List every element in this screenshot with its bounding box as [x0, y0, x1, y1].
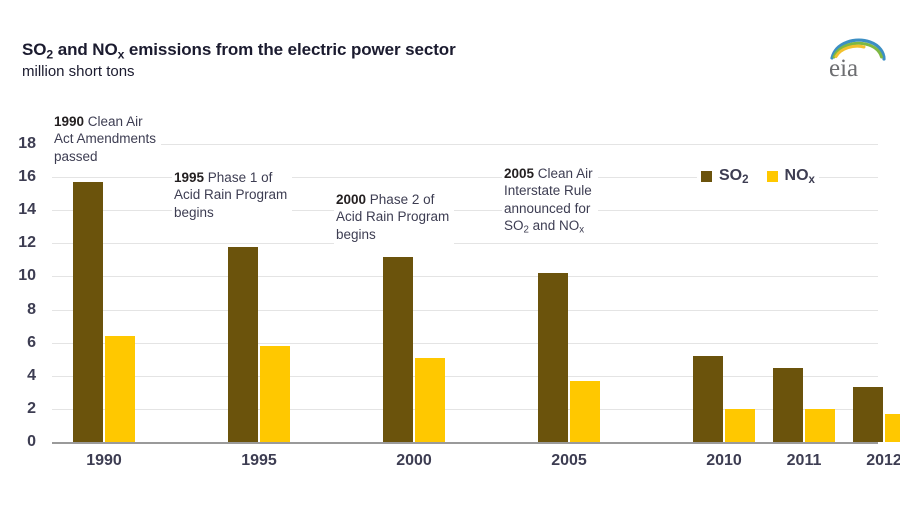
x-axis-tick-label-1990: 1990: [86, 452, 122, 470]
annotation-year: 1990: [54, 114, 88, 129]
bar-NOx-1995: [260, 346, 290, 442]
legend-swatch-NOx: [767, 171, 778, 182]
annotation-year: 2005: [504, 166, 538, 181]
gridline: [52, 343, 878, 344]
y-axis-tick-label: 12: [18, 234, 36, 252]
chart-header: SO2 and NOx emissions from the electric …: [22, 40, 722, 81]
x-axis-tick-label-2011: 2011: [787, 452, 822, 470]
annotation-line: SO2 and NOx: [504, 217, 593, 237]
x-axis-tick-label-2012: 2012: [866, 452, 900, 470]
legend-label-NOx: NOx: [785, 167, 815, 186]
eia-logo: eia: [826, 36, 888, 82]
y-axis: 024681012141618: [0, 144, 44, 444]
y-axis-tick-label: 18: [18, 135, 36, 153]
annotation-line: 2005 Clean Air: [504, 165, 593, 182]
bar-NOx-2005: [570, 381, 600, 442]
page-title: SO2 and NOx emissions from the electric …: [22, 40, 722, 61]
gridline: [52, 243, 878, 244]
gridline: [52, 310, 878, 311]
annotation-1995: 1995 Phase 1 ofAcid Rain Programbegins: [172, 168, 292, 222]
y-axis-tick-label: 6: [27, 334, 36, 352]
annotation-2000: 2000 Phase 2 ofAcid Rain Programbegins: [334, 190, 454, 244]
y-axis-tick-label: 10: [18, 267, 36, 285]
x-axis: 1990199520002005201020112012: [52, 452, 878, 478]
bar-SO2-1995: [228, 247, 258, 442]
bar-NOx-2000: [415, 358, 445, 442]
title-segment-rest: emissions from the electric power sector: [124, 40, 455, 59]
bar-SO2-2000: [383, 257, 413, 442]
y-axis-tick-label: 4: [27, 367, 36, 385]
annotation-line: begins: [174, 204, 287, 221]
bar-NOx-2011: [805, 409, 835, 442]
annotation-line: Acid Rain Program: [336, 208, 449, 225]
svg-text:eia: eia: [829, 55, 858, 82]
annotation-year: 2000: [336, 192, 370, 207]
bar-NOx-1990: [105, 336, 135, 442]
title-segment-and-no: and NO: [53, 40, 117, 59]
y-axis-tick-label: 2: [27, 400, 36, 418]
y-axis-tick-label: 14: [18, 201, 36, 219]
bar-SO2-2012: [853, 387, 883, 442]
annotation-1990: 1990 Clean AirAct Amendmentspassed: [52, 112, 161, 166]
annotation-line: passed: [54, 148, 156, 165]
bar-SO2-2011: [773, 368, 803, 443]
annotation-line: 1990 Clean Air: [54, 113, 156, 130]
legend-item-SO2[interactable]: SO2: [701, 167, 749, 186]
annotation-line: Acid Rain Program: [174, 186, 287, 203]
annotation-2005: 2005 Clean AirInterstate Ruleannounced f…: [502, 164, 598, 238]
bar-NOx-2012: [885, 414, 900, 442]
legend-item-NOx[interactable]: NOx: [767, 167, 815, 186]
annotation-line: begins: [336, 226, 449, 243]
y-axis-tick-label: 0: [27, 433, 36, 451]
bar-SO2-2010: [693, 356, 723, 442]
axis-baseline: [52, 442, 878, 444]
x-axis-tick-label-2010: 2010: [706, 452, 742, 470]
annotation-line: announced for: [504, 200, 593, 217]
x-axis-tick-label-2005: 2005: [551, 452, 587, 470]
x-axis-tick-label-2000: 2000: [396, 452, 432, 470]
legend-label-SO2: SO2: [719, 167, 749, 186]
y-axis-tick-label: 16: [18, 168, 36, 186]
y-axis-tick-label: 8: [27, 301, 36, 319]
annotation-line: 1995 Phase 1 of: [174, 169, 287, 186]
bar-SO2-2005: [538, 273, 568, 442]
gridline: [52, 144, 878, 145]
bar-NOx-2010: [725, 409, 755, 442]
annotation-line: 2000 Phase 2 of: [336, 191, 449, 208]
title-segment-so2: SO: [22, 40, 46, 59]
gridline: [52, 376, 878, 377]
annotation-year: 1995: [174, 170, 208, 185]
annotation-line: Interstate Rule: [504, 182, 593, 199]
eia-logo-svg: eia: [826, 36, 888, 82]
chart-legend: SO2NOx: [697, 166, 819, 187]
x-axis-tick-label-1995: 1995: [241, 452, 277, 470]
chart-subtitle: million short tons: [22, 63, 722, 81]
legend-swatch-SO2: [701, 171, 712, 182]
bar-SO2-1990: [73, 182, 103, 442]
gridline: [52, 276, 878, 277]
annotation-line: Act Amendments: [54, 130, 156, 147]
